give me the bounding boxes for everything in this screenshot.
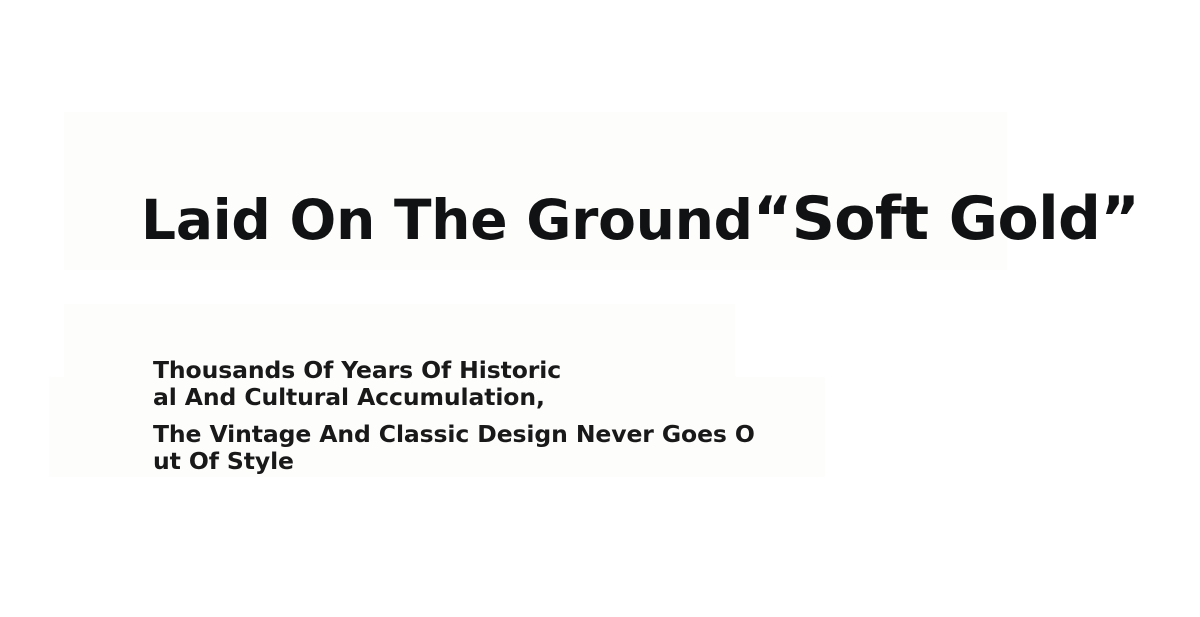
body-paragraph-heritage: Thousands Of Years Of Historic al And Cu… (153, 357, 623, 411)
page-title: Laid On The Ground“Soft Gold” (141, 189, 1139, 249)
body-paragraph-style: The Vintage And Classic Design Never Goe… (153, 421, 833, 475)
page-title-primary: Laid On The Ground (141, 188, 753, 252)
page-title-accent: “Soft Gold” (753, 184, 1139, 254)
